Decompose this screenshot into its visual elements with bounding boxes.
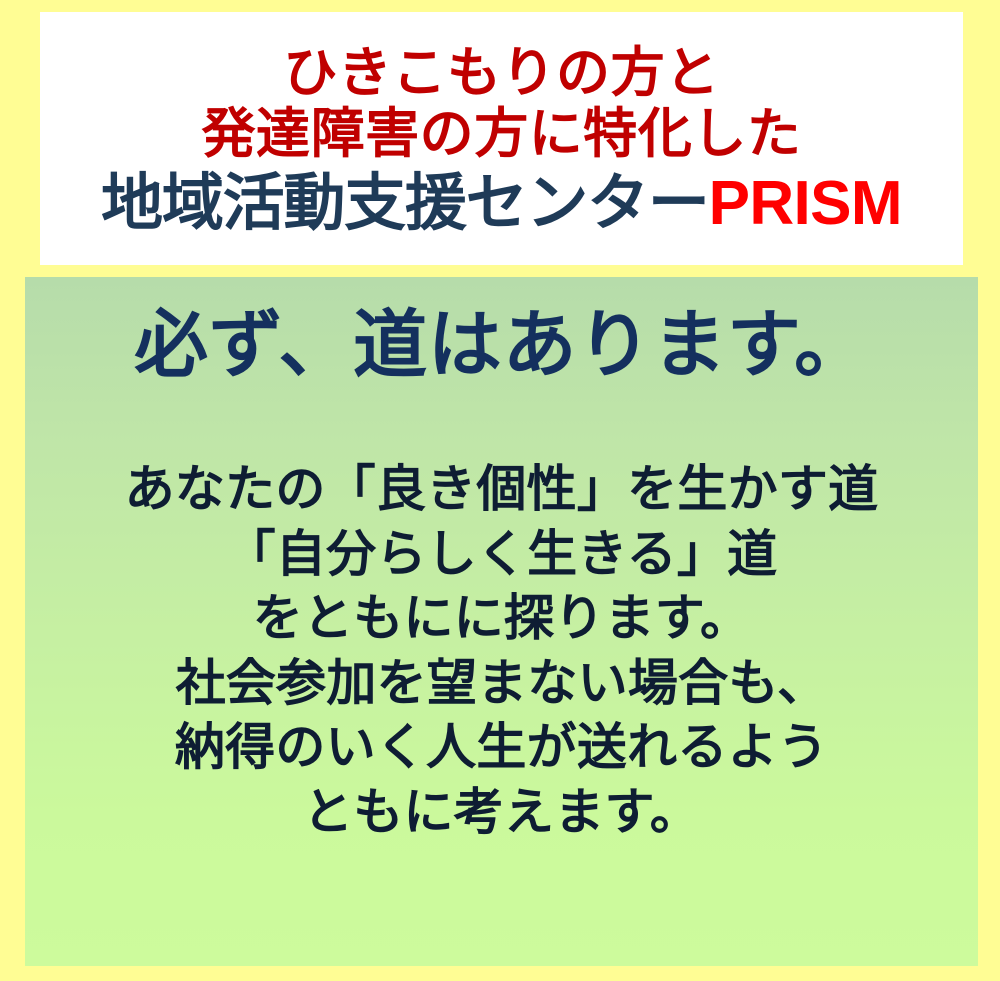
poster-root: ひきこもりの方と 発達障害の方に特化した 地域活動支援センターPRISM 必ず、… bbox=[0, 0, 1000, 981]
message-line: 社会参加を望まない場合も、 bbox=[25, 651, 978, 716]
organization-name: 地域活動支援センター bbox=[101, 171, 709, 234]
message-line: あなたの「良き個性」を生かす道 bbox=[25, 457, 978, 522]
message-line: ともに考えます。 bbox=[25, 780, 978, 845]
message-line: 納得のいく人生が送れるよう bbox=[25, 715, 978, 780]
header-line-2: 発達障害の方に特化した bbox=[40, 106, 963, 161]
message-line: をともにに探ります。 bbox=[25, 586, 978, 651]
headline-slogan: 必ず、道はあります。 bbox=[25, 305, 978, 386]
header-panel: ひきこもりの方と 発達障害の方に特化した 地域活動支援センターPRISM bbox=[40, 12, 963, 265]
body-panel: 必ず、道はあります。 あなたの「良き個性」を生かす道 「自分らしく生きる」道 を… bbox=[25, 277, 978, 966]
brand-name-prism: PRISM bbox=[709, 172, 902, 235]
header-line-1: ひきこもりの方と bbox=[40, 45, 963, 100]
message-line: 「自分らしく生きる」道 bbox=[25, 522, 978, 587]
header-line-3: 地域活動支援センターPRISM bbox=[40, 171, 963, 235]
message-block: あなたの「良き個性」を生かす道 「自分らしく生きる」道 をともにに探ります。 社… bbox=[25, 457, 978, 844]
